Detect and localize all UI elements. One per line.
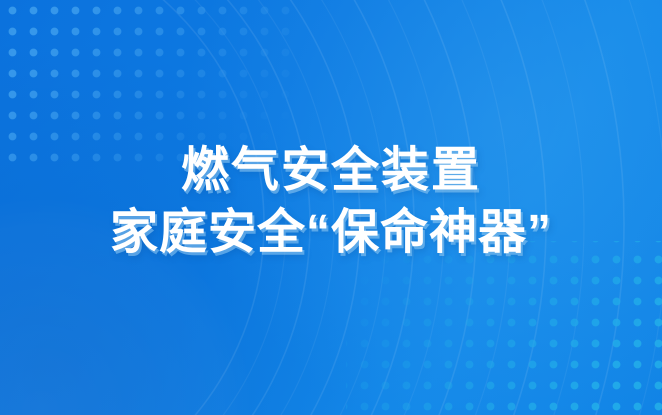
gas-safety-banner: 燃气安全装置 家庭安全“保命神器” <box>0 0 662 415</box>
headline-line-1: 燃气安全装置 <box>0 140 662 202</box>
headline-line-2: 家庭安全“保命神器” <box>0 202 662 264</box>
page-title: 燃气安全装置 家庭安全“保命神器” <box>0 140 662 264</box>
